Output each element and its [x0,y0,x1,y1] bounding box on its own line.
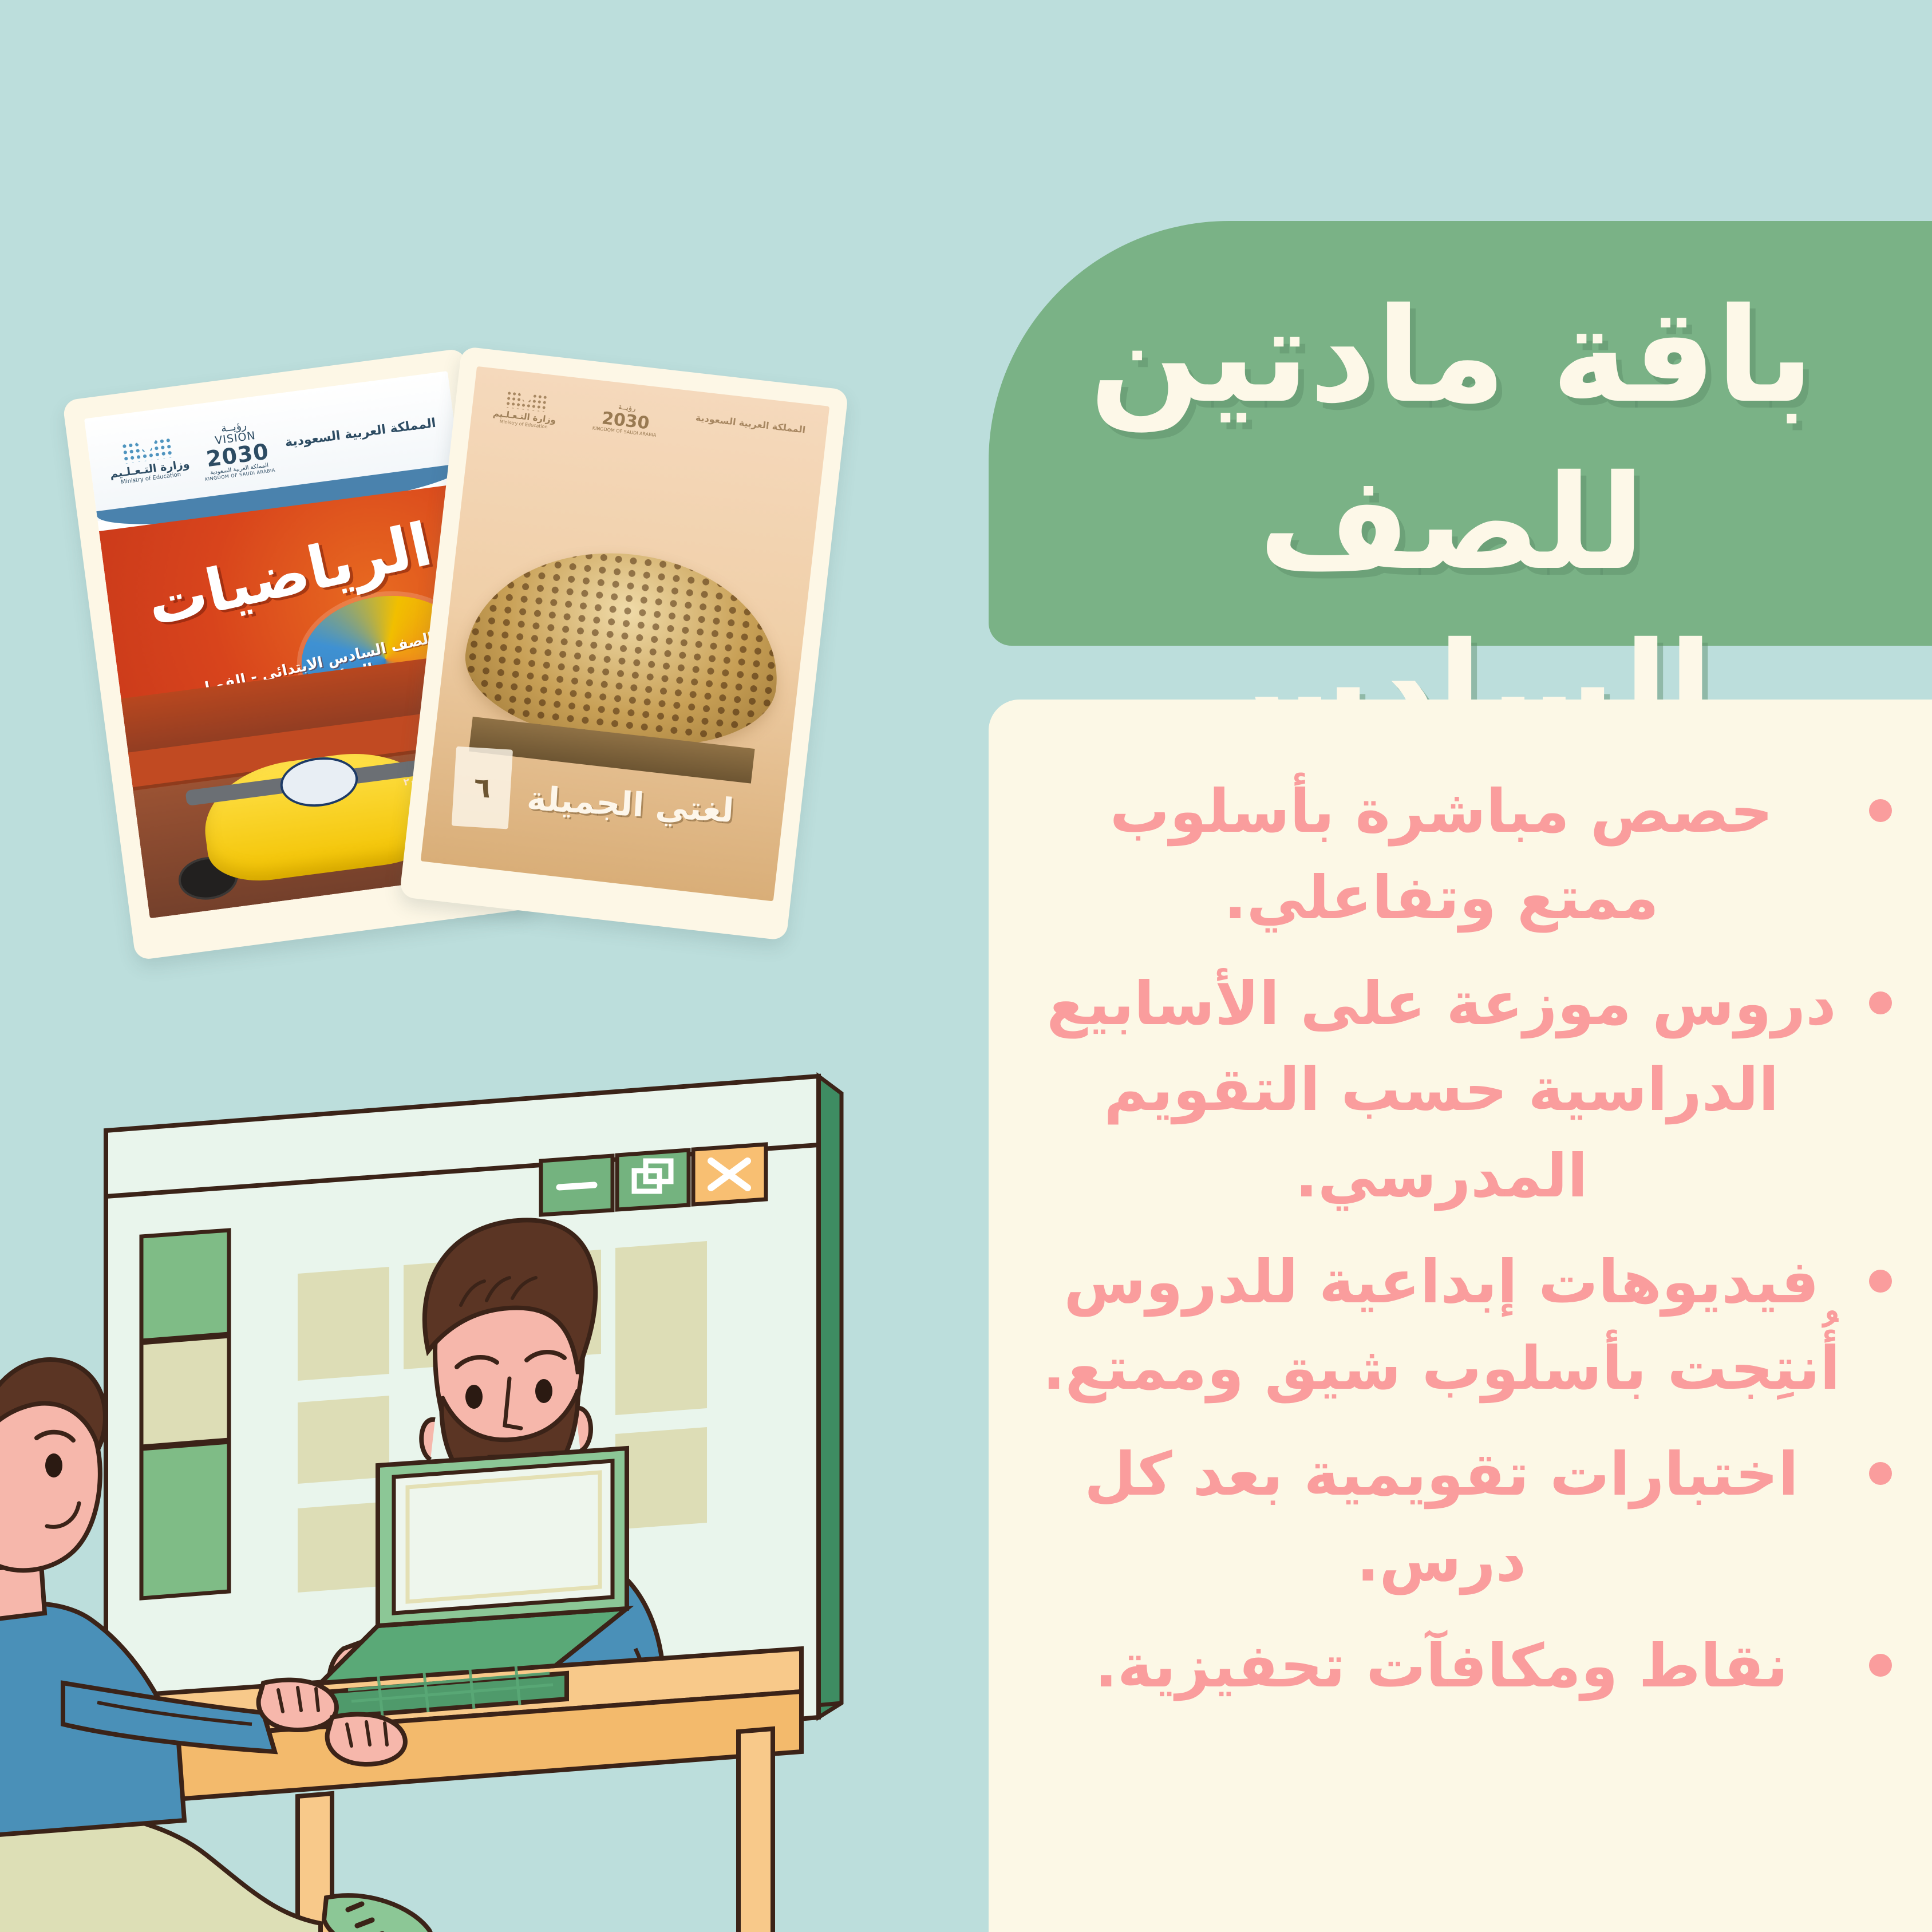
vision-2030-logo: رؤيــة 2030 KINGDOM OF SAUDI ARABIA [592,401,659,438]
window-maximize-button[interactable] [617,1150,689,1210]
bullet-dot-icon [1869,1462,1892,1485]
list-item: اختبارات تقويمية بعد كل درس. [1029,1431,1892,1604]
window-minimize-button[interactable] [541,1156,613,1215]
language-grade-number: ٦ [452,746,513,829]
window-close-button[interactable] [693,1144,766,1204]
page-title: باقة مادتين للصف السادس [1034,272,1869,773]
book-photos-group: المملكة العربية السعودية رؤيــة VISION 2… [86,321,945,927]
book-photo-language: المملكة العربية السعودية رؤيــة 2030 KIN… [399,346,848,941]
feature-text: حصص مباشرة بأسلوب ممتع وتفاعلي. [1029,768,1854,941]
bullet-dot-icon [1869,1654,1892,1677]
language-book-cover: المملكة العربية السعودية رؤيــة 2030 KIN… [421,366,830,902]
sidebar-tiles [141,1230,229,1598]
online-class-illustration [0,1008,962,1932]
bullet-dot-icon [1869,991,1892,1014]
bullet-dot-icon [1869,799,1892,822]
poster-root: باقة مادتين للصف السادس حصص مباشرة بأسلو… [0,0,1932,1932]
page-title-line-1: باقة مادتين [1034,272,1869,440]
list-item: حصص مباشرة بأسلوب ممتع وتفاعلي. [1029,768,1892,941]
features-list: حصص مباشرة بأسلوب ممتع وتفاعلي. دروس موز… [1029,768,1892,1729]
list-item: فيديوهات إبداعية للدروس أُنتِجت بأسلوب ش… [1029,1239,1892,1412]
feature-text: نقاط ومكافآت تحفيزية. [1029,1623,1854,1709]
ministry-of-education-logo: وزارة التـعـلـيم Ministry of Education [492,389,559,430]
math-kingdom-label: المملكة العربية السعودية [284,416,437,450]
list-item: دروس موزعة على الأسابيع الدراسية حسب الت… [1029,961,1892,1219]
ministry-of-education-logo: وزارة التـعـلـيم Ministry of Education [106,435,191,487]
header-green-panel: باقة مادتين للصف السادس [989,221,1932,646]
bullet-dot-icon [1869,1270,1892,1293]
feature-text: فيديوهات إبداعية للدروس أُنتِجت بأسلوب ش… [1029,1239,1854,1412]
language-kingdom-label: المملكة العربية السعودية [695,412,806,436]
moe-dot-pattern-icon [505,390,547,412]
feature-text: اختبارات تقويمية بعد كل درس. [1029,1431,1854,1604]
vision-2030-logo: رؤيــة VISION 2030 المملكة العربية السعو… [198,417,276,482]
feature-text: دروس موزعة على الأسابيع الدراسية حسب الت… [1029,961,1854,1219]
features-panel: حصص مباشرة بأسلوب ممتع وتفاعلي. دروس موز… [989,700,1932,1932]
moe-dot-pattern-icon [121,437,173,464]
language-cover-header-row: المملكة العربية السعودية رؤيــة 2030 KIN… [466,381,828,500]
language-book-title: لغتي الجميلة [505,777,756,831]
list-item: نقاط ومكافآت تحفيزية. [1029,1623,1892,1709]
